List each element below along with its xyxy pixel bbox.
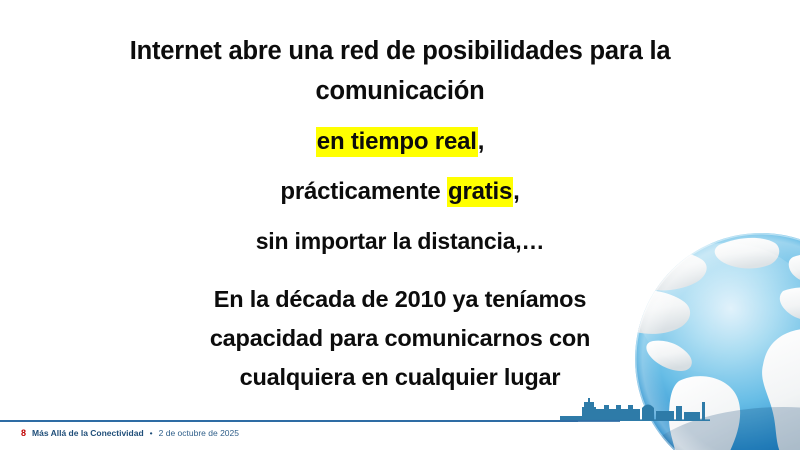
- body-line-4: prácticamente gratis,: [0, 169, 800, 214]
- body-line-4-lead: prácticamente: [280, 178, 447, 205]
- slide-number: 8: [21, 428, 26, 438]
- highlight-tiempo-real: en tiempo real: [316, 127, 478, 157]
- footer-divider-extension: [560, 420, 620, 422]
- footer-title: Más Allá de la Conectividad: [32, 428, 144, 438]
- body-line-1: Internet abre una red de posibilidades p…: [70, 31, 730, 71]
- body-line-7: capacidad para comunicarnos con: [90, 319, 710, 358]
- slide-footer: 8 Más Allá de la Conectividad • 2 de oct…: [21, 428, 239, 438]
- footer-date: 2 de octubre de 2025: [159, 428, 239, 438]
- slide-body-text: Internet abre una red de posibilidades p…: [0, 0, 800, 397]
- footer-divider: [0, 420, 578, 422]
- city-skyline-silhouette: [560, 396, 710, 422]
- footer-separator: •: [150, 428, 153, 438]
- body-line-8: cualquiera en cualquier lugar: [90, 358, 710, 397]
- body-line-4-tail: ,: [513, 178, 519, 205]
- paragraph-block-2: En la década de 2010 ya teníamos capacid…: [0, 280, 800, 397]
- body-line-3: en tiempo real,: [0, 119, 800, 164]
- body-line-3-tail: ,: [478, 128, 484, 155]
- body-line-2: comunicación: [70, 71, 730, 111]
- body-line-6: En la década de 2010 ya teníamos: [90, 280, 710, 319]
- body-line-5: sin importar la distancia,…: [0, 219, 800, 264]
- paragraph-block-1: Internet abre una red de posibilidades p…: [70, 31, 730, 111]
- presentation-slide: Internet abre una red de posibilidades p…: [0, 0, 800, 450]
- highlight-gratis: gratis: [447, 177, 513, 207]
